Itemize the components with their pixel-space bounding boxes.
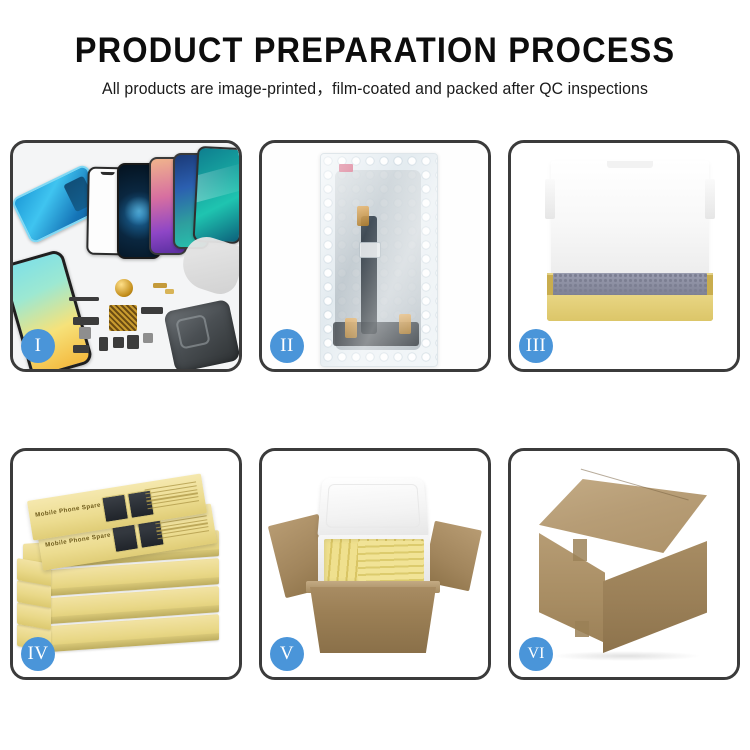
process-step-panel-6: VI	[508, 448, 740, 680]
process-step-panel-3: III	[508, 140, 740, 372]
lid-notch	[607, 161, 653, 168]
box-spec-lines	[145, 481, 201, 517]
process-step-panel-2: II	[259, 140, 491, 372]
button-flex-part	[141, 307, 163, 314]
white-box-lid-icon	[551, 161, 709, 279]
process-step-panel-4: Mobile Phone Spare Parts Mobile Phone Sp…	[10, 448, 242, 680]
sim-tray-part	[99, 337, 108, 351]
process-step-panel-1: I	[10, 140, 242, 372]
camera-module-part	[79, 327, 91, 339]
product-preparation-infographic: PRODUCT PREPARATION PROCESS All products…	[0, 0, 750, 750]
step-3-image: III	[511, 143, 737, 369]
box-art-screen	[101, 494, 129, 523]
step-badge-6: VI	[519, 637, 553, 671]
step-2-image: II	[262, 143, 488, 369]
tray-front-face	[547, 295, 713, 321]
step-badge-4: IV	[21, 637, 55, 671]
lcd-driver-chip	[359, 242, 381, 258]
screw-plate-part	[143, 333, 153, 343]
step-badge-2: II	[270, 329, 304, 363]
taptic-part	[127, 335, 139, 349]
carton-shadow	[551, 651, 701, 661]
step-5-image: V	[262, 451, 488, 677]
lcd-connector-left	[345, 318, 357, 338]
gold-bracket-part	[165, 289, 174, 294]
step-1-image: I	[13, 143, 239, 369]
carton-body-icon	[310, 587, 436, 653]
lcd-connector-right	[399, 314, 411, 334]
process-step-panel-5: V	[259, 448, 491, 680]
green-gradient-phone-icon	[193, 146, 239, 244]
gold-connector-part	[153, 283, 167, 288]
styrofoam-lid-icon	[317, 478, 428, 537]
bubble-wrap-bag-icon	[320, 153, 438, 367]
phone-backplate-icon	[163, 299, 239, 369]
flex-strip-part	[69, 297, 99, 301]
step-badge-3: III	[519, 329, 553, 363]
box-art-screen	[111, 524, 139, 553]
carton-tape-upper	[573, 539, 587, 561]
lcd-connector-top	[357, 206, 369, 226]
bracket-part	[73, 345, 89, 353]
packed-yellow-boxes-row	[358, 541, 424, 581]
step-6-image: VI	[511, 451, 737, 677]
speaker-coil-part	[115, 279, 133, 297]
step-badge-5: V	[270, 637, 304, 671]
step-badge-1: I	[21, 329, 55, 363]
small-chip-part	[113, 337, 124, 348]
step-4-image: Mobile Phone Spare Parts Mobile Phone Sp…	[13, 451, 239, 677]
page-subtitle: All products are image-printed，film-coat…	[15, 78, 735, 100]
flex-cable-part	[73, 317, 99, 325]
box-stack: Mobile Phone Spare Parts Mobile Phone Sp…	[17, 473, 239, 669]
page-title: PRODUCT PREPARATION PROCESS	[26, 30, 724, 72]
process-steps-grid: I II	[10, 140, 740, 680]
carton-left-face	[539, 533, 605, 643]
lcd-flex-cable	[361, 216, 377, 334]
pink-qc-sticker	[339, 164, 353, 172]
header: PRODUCT PREPARATION PROCESS All products…	[0, 0, 750, 100]
carton-tape-lower	[575, 621, 589, 637]
mesh-grille-part	[109, 305, 137, 331]
carton-right-face	[603, 541, 707, 653]
